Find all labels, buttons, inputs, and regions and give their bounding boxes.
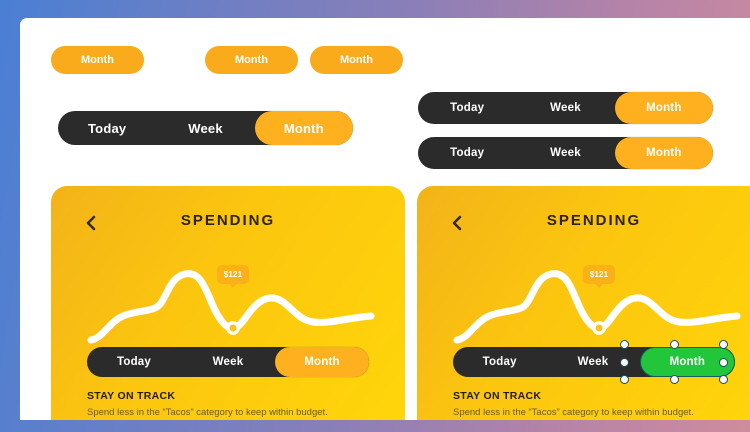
segment-month[interactable]: Month bbox=[275, 347, 369, 377]
design-canvas: Month Month Month Today Week Month Today bbox=[20, 18, 750, 420]
segment-label: Week bbox=[188, 121, 223, 136]
chevron-left-icon[interactable] bbox=[449, 214, 465, 232]
chip-label: Month bbox=[81, 54, 114, 66]
card-segmented-toggle[interactable]: Today Week Month bbox=[453, 347, 735, 377]
segment-label: Month bbox=[646, 147, 681, 159]
spending-line-chart: $121 bbox=[417, 238, 750, 346]
segment-label: Month bbox=[284, 121, 324, 136]
chart-tooltip: $121 bbox=[583, 265, 615, 284]
segment-label: Week bbox=[550, 147, 581, 159]
card-footer: STAY ON TRACK Spend less in the “Tacos” … bbox=[87, 390, 387, 418]
segmented-toggle-right-a[interactable]: Today Week Month bbox=[418, 92, 713, 124]
chevron-left-icon[interactable] bbox=[83, 214, 99, 232]
segment-week[interactable]: Week bbox=[156, 111, 254, 145]
segment-today[interactable]: Today bbox=[58, 111, 156, 145]
chart-tooltip: $121 bbox=[217, 265, 249, 284]
segment-month[interactable]: Month bbox=[255, 111, 353, 145]
segment-week[interactable]: Week bbox=[516, 137, 614, 169]
footer-subtitle: Spend less in the “Tacos” category to ke… bbox=[453, 407, 750, 418]
segment-week[interactable]: Week bbox=[516, 92, 614, 124]
chip-month-2[interactable]: Month bbox=[205, 46, 298, 74]
segment-label: Today bbox=[483, 356, 517, 368]
tooltip-value: $121 bbox=[224, 270, 243, 279]
spending-card-right: SPENDING $121 Today Week Mo bbox=[417, 186, 750, 420]
card-header: SPENDING bbox=[417, 212, 750, 234]
segment-today[interactable]: Today bbox=[418, 92, 516, 124]
segment-label: Today bbox=[450, 102, 484, 114]
segment-label: Today bbox=[117, 356, 151, 368]
segment-label: Month bbox=[670, 356, 705, 368]
chip-label: Month bbox=[340, 54, 373, 66]
segment-label: Month bbox=[304, 356, 339, 368]
segment-label: Today bbox=[450, 147, 484, 159]
chip-label: Month bbox=[235, 54, 268, 66]
footer-subtitle: Spend less in the “Tacos” category to ke… bbox=[87, 407, 387, 418]
card-header: SPENDING bbox=[51, 212, 405, 234]
segment-week[interactable]: Week bbox=[546, 347, 639, 377]
segment-label: Week bbox=[213, 356, 244, 368]
segment-label: Month bbox=[646, 102, 681, 114]
page-title: SPENDING bbox=[417, 212, 750, 229]
segmented-toggle-right-b[interactable]: Today Week Month bbox=[418, 137, 713, 169]
segment-month-selected[interactable]: Month bbox=[640, 347, 735, 377]
segment-today[interactable]: Today bbox=[418, 137, 516, 169]
segment-month[interactable]: Month bbox=[615, 137, 713, 169]
tooltip-value: $121 bbox=[590, 270, 609, 279]
segmented-toggle-large[interactable]: Today Week Month bbox=[58, 111, 353, 145]
segment-today[interactable]: Today bbox=[453, 347, 546, 377]
spending-line-chart: $121 bbox=[51, 238, 405, 346]
segment-label: Week bbox=[550, 102, 581, 114]
chip-month-3[interactable]: Month bbox=[310, 46, 403, 74]
footer-title: STAY ON TRACK bbox=[453, 390, 750, 402]
segment-week[interactable]: Week bbox=[181, 347, 275, 377]
spending-card-left: SPENDING $121 Today Week Mo bbox=[51, 186, 405, 420]
footer-title: STAY ON TRACK bbox=[87, 390, 387, 402]
page-title: SPENDING bbox=[51, 212, 405, 229]
segment-month[interactable]: Month bbox=[615, 92, 713, 124]
segment-label: Today bbox=[88, 121, 126, 136]
chip-month-1[interactable]: Month bbox=[51, 46, 144, 74]
card-segmented-toggle[interactable]: Today Week Month bbox=[87, 347, 369, 377]
card-footer: STAY ON TRACK Spend less in the “Tacos” … bbox=[453, 390, 750, 418]
screenshot-root: Month Month Month Today Week Month Today bbox=[0, 0, 750, 432]
segment-today[interactable]: Today bbox=[87, 347, 181, 377]
segment-label: Week bbox=[578, 356, 609, 368]
